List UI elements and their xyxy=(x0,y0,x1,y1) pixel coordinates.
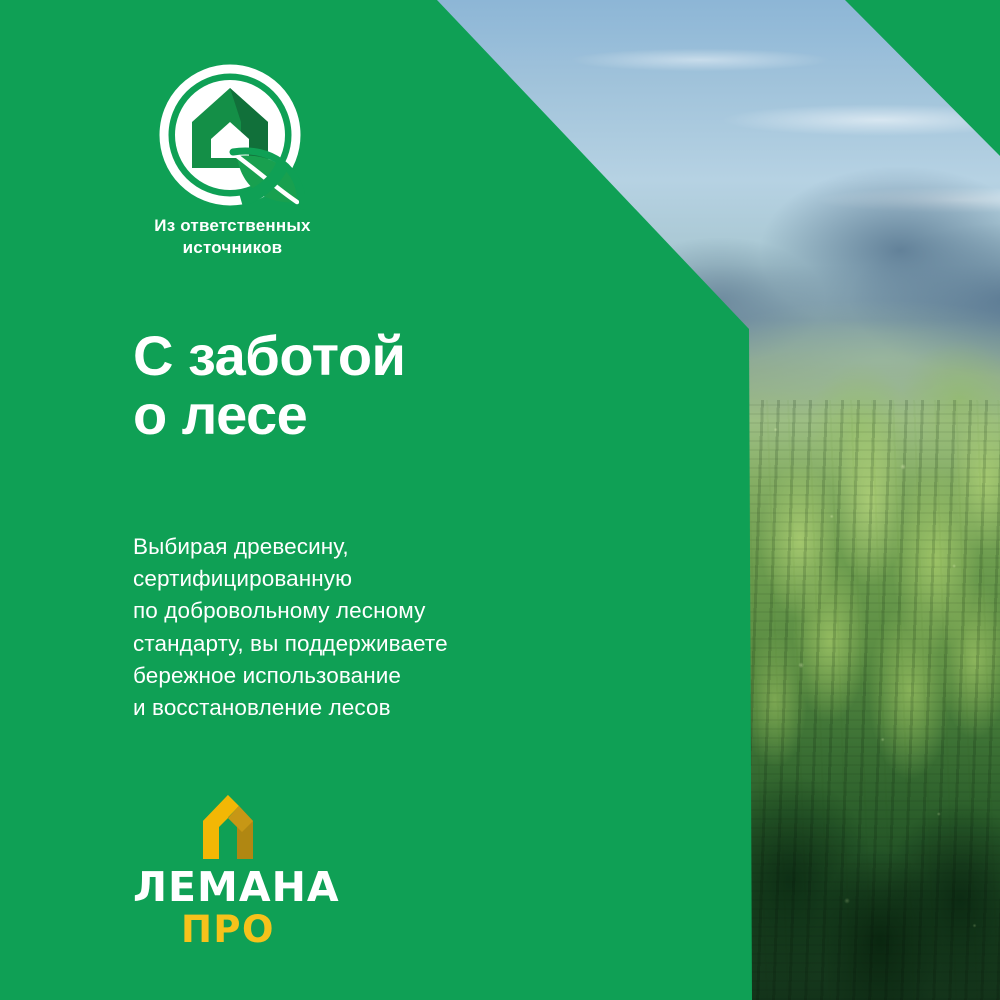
body-line-2: сертифицированную xyxy=(133,563,693,595)
body-line-3: по добровольному лесному xyxy=(133,595,693,627)
eco-promo-banner: Из ответственных источников С заботой о … xyxy=(0,0,1000,1000)
house-leaf-circle-icon xyxy=(155,60,305,210)
brand-sub: ПРО xyxy=(133,911,323,948)
eco-caption-line-2: источников xyxy=(125,237,340,259)
eco-badge-caption: Из ответственных источников xyxy=(125,215,340,259)
eco-caption-line-1: Из ответственных xyxy=(125,215,340,237)
headline-line-1: С заботой xyxy=(133,326,693,385)
headline-line-2: о лесе xyxy=(133,385,693,444)
body-line-5: бережное использование xyxy=(133,660,693,692)
eco-certification-badge: Из ответственных источников xyxy=(155,60,315,265)
headline: С заботой о лесе xyxy=(133,326,693,445)
brand-name: ЛЕМАНА xyxy=(133,867,323,908)
brand-logo: ЛЕМАНА ПРО xyxy=(133,793,323,948)
body-line-6: и восстановление лесов xyxy=(133,692,693,724)
body-line-4: стандарту, вы поддерживаете xyxy=(133,628,693,660)
body-copy: Выбирая древесину, сертифицированную по … xyxy=(133,531,693,724)
lemana-house-icon xyxy=(195,793,261,861)
body-line-1: Выбирая древесину, xyxy=(133,531,693,563)
